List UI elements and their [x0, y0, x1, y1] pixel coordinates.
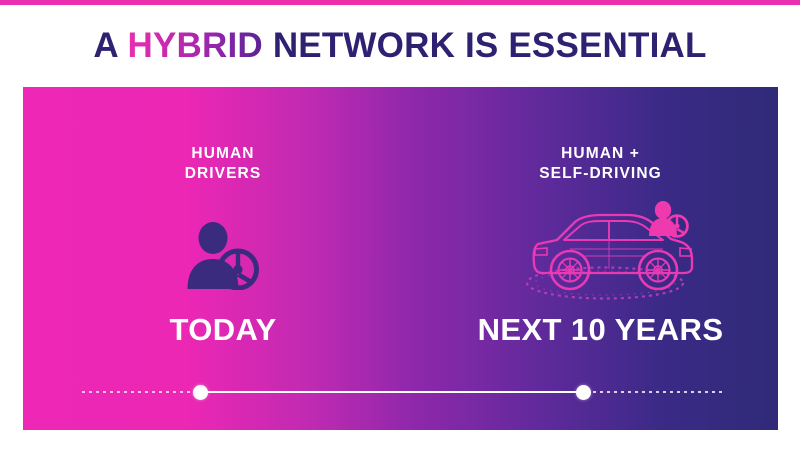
column-heading-human-self-driving: HUMAN + SELF-DRIVING — [423, 144, 778, 184]
today-to-next-10-years-timeline[interactable] — [23, 380, 778, 404]
timeline-segment-dotted-right — [586, 391, 726, 393]
timeline-segment-solid — [201, 391, 586, 393]
column-heading-line-2: DRIVERS — [23, 164, 423, 184]
autonomous-car-icon — [523, 199, 713, 304]
title-segment-hybrid: HYBRID — [128, 26, 263, 65]
title-segment-a: A — [93, 26, 127, 65]
driver-badge-icon — [649, 201, 687, 236]
column-caption-today: TODAY — [23, 312, 423, 348]
column-heading-line-2: SELF-DRIVING — [423, 164, 778, 184]
column-human-self-driving: HUMAN + SELF-DRIVING — [423, 87, 778, 430]
column-heading-human-drivers: HUMAN DRIVERS — [23, 144, 423, 184]
hybrid-network-panel: HUMAN DRIVERS TODAY — [23, 87, 778, 430]
page-title: A HYBRID NETWORK IS ESSENTIAL — [0, 24, 800, 68]
driver-person-steering-wheel-icon — [186, 222, 261, 290]
title-segment-rest: NETWORK IS ESSENTIAL — [263, 26, 707, 65]
timeline-marker-next-10-years[interactable] — [576, 385, 591, 400]
column-heading-line-1: HUMAN + — [423, 144, 778, 164]
timeline-marker-today[interactable] — [193, 385, 208, 400]
column-heading-line-1: HUMAN — [23, 144, 423, 164]
column-caption-next-10-years: NEXT 10 YEARS — [423, 312, 778, 348]
timeline-segment-dotted-left — [82, 391, 201, 393]
column-human-drivers: HUMAN DRIVERS TODAY — [23, 87, 423, 430]
top-accent-bar — [0, 0, 800, 5]
